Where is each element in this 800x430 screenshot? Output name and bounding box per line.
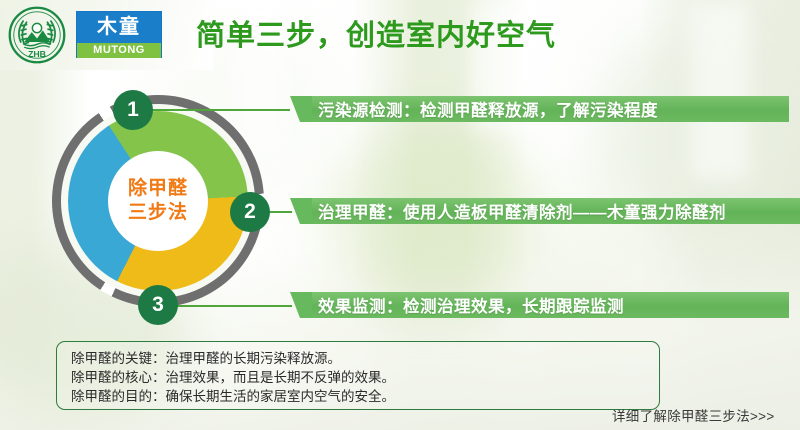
zhb-emblem-icon: ZHB (8, 6, 66, 64)
step-badge-1[interactable]: 1 (113, 90, 153, 130)
summary-note-box: 除甲醛的关键：治理甲醛的长期污染释放源。 除甲醛的核心：治理效果，而且是长期不反… (56, 341, 660, 410)
banner-arrow-icon (290, 292, 312, 318)
banner-arrow-icon (290, 96, 312, 122)
more-details-link[interactable]: 详细了解除甲醛三步法>>> (612, 405, 775, 425)
step-banner-2-text: 治理甲醛：使用人造板甲醛清除剂——木童强力除醛剂 (318, 199, 726, 223)
connector-line-1 (150, 109, 290, 111)
mutong-logo: 木童 MUTONG (76, 11, 162, 58)
banner-arrow-icon (290, 198, 312, 224)
step-banner-3[interactable]: 效果监测：检测治理效果，长期跟踪监测 (290, 292, 789, 318)
step-banner-1-body: 污染源检测：检测甲醛释放源，了解污染程度 (312, 96, 789, 122)
summary-note-line: 除甲醛的关键：治理甲醛的长期污染释放源。 (71, 349, 659, 368)
infographic-root: ZHB 木童 MUTONG 简单三步，创造室内好空气 除甲醛 三步法 1 2 3… (0, 0, 800, 430)
mutong-logo-en: MUTONG (77, 43, 161, 58)
connector-line-3 (176, 305, 292, 307)
mutong-logo-top: 木童 (77, 12, 161, 43)
connector-line-2 (268, 211, 292, 213)
zhb-emblem-text: ZHB (28, 49, 46, 59)
step-banner-2-body: 治理甲醛：使用人造板甲醛清除剂——木童强力除醛剂 (312, 198, 800, 224)
step-banner-3-body: 效果监测：检测治理效果，长期跟踪监测 (312, 292, 789, 318)
step-badge-3[interactable]: 3 (138, 285, 178, 325)
summary-note-line: 除甲醛的核心：治理效果，而且是长期不反弹的效果。 (71, 368, 659, 387)
donut-center-label: 除甲醛 三步法 (108, 151, 208, 251)
donut-center-line1: 除甲醛 (128, 177, 188, 201)
mutong-logo-cn: 木童 (77, 12, 161, 43)
step-banner-1[interactable]: 污染源检测：检测甲醛释放源，了解污染程度 (290, 96, 789, 122)
step-banner-1-text: 污染源检测：检测甲醛释放源，了解污染程度 (318, 97, 658, 121)
background-window-highlight (690, 0, 750, 180)
step-badge-2[interactable]: 2 (230, 192, 270, 232)
step-banner-3-text: 效果监测：检测治理效果，长期跟踪监测 (318, 293, 624, 317)
summary-note-line: 除甲醛的目的：确保长期生活的家居室内空气的安全。 (71, 387, 659, 406)
page-title: 简单三步，创造室内好空气 (196, 16, 600, 56)
step-banner-2[interactable]: 治理甲醛：使用人造板甲醛清除剂——木童强力除醛剂 (290, 198, 800, 224)
donut-center-line2: 三步法 (128, 201, 188, 225)
